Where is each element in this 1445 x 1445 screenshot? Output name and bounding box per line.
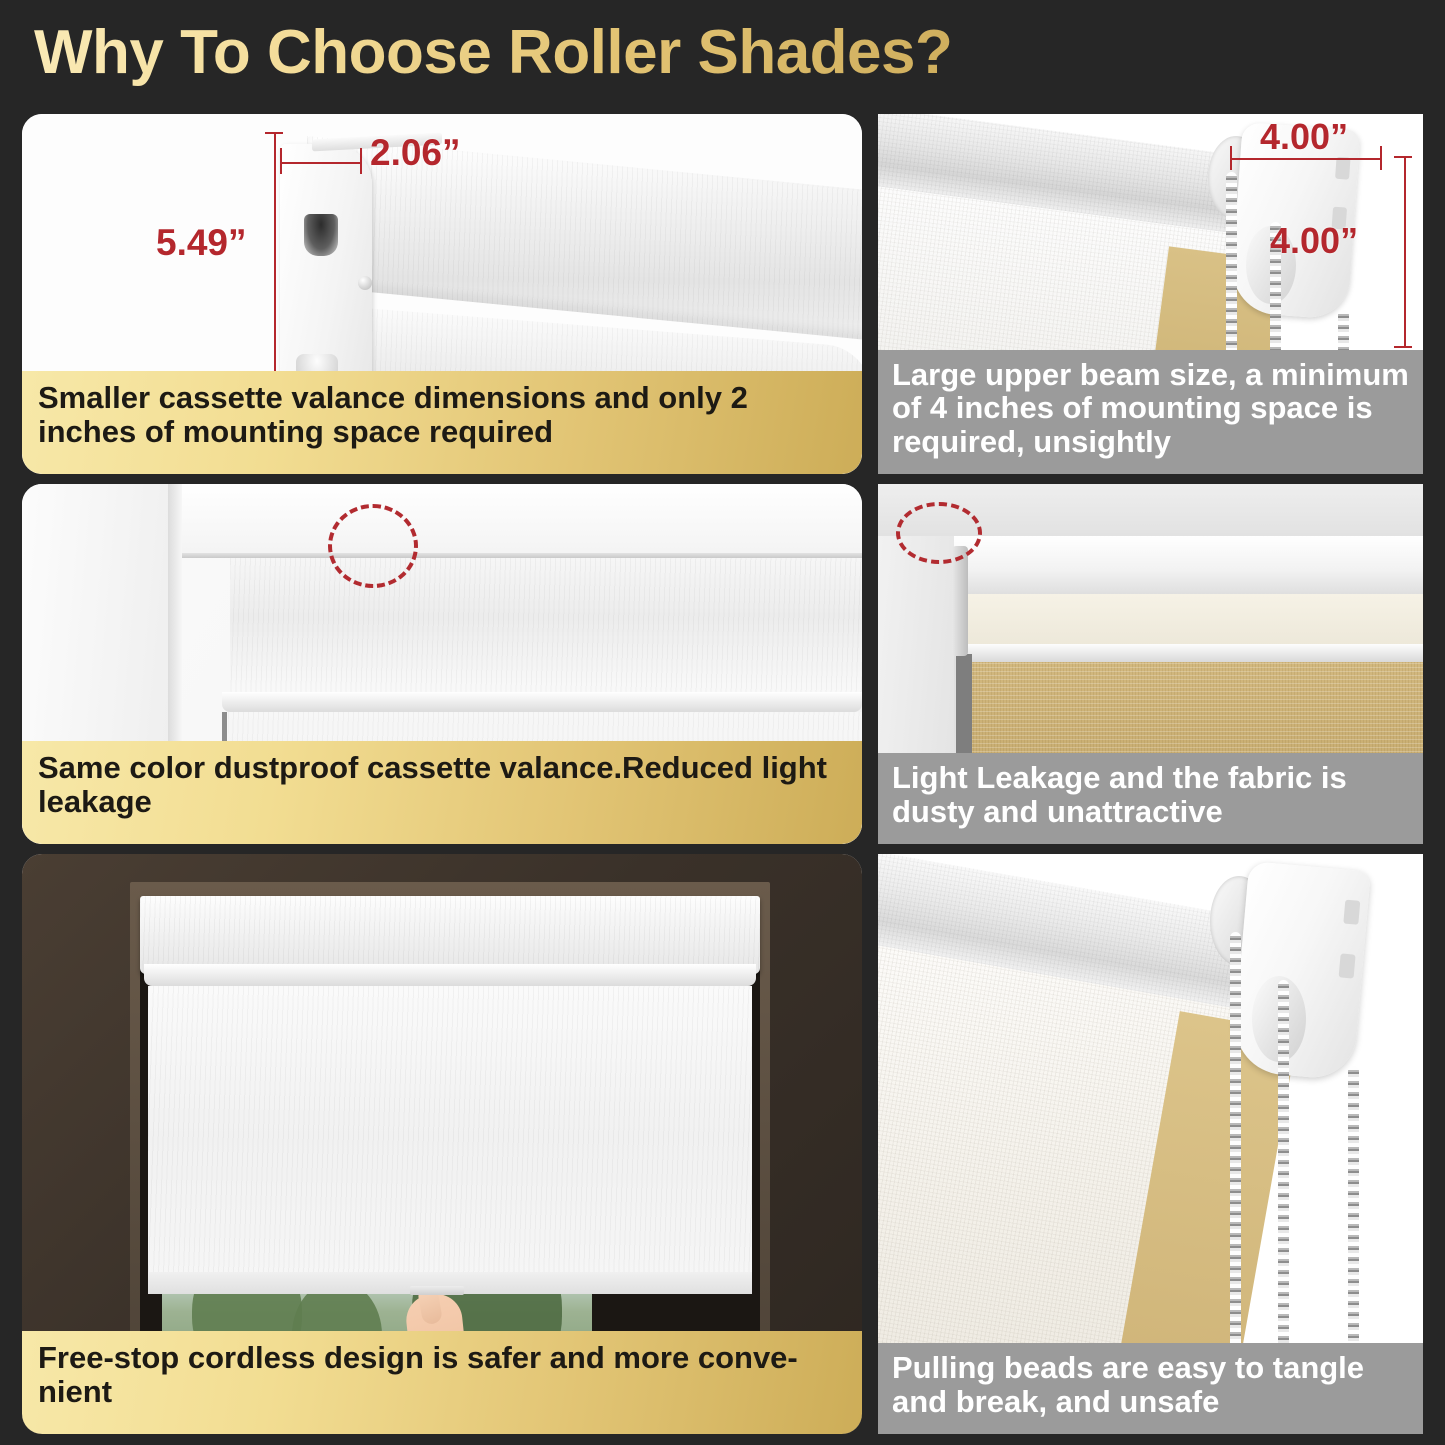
panel-4-caption: Light Leakage and the fabric is dusty an… (878, 753, 1423, 844)
bracket-slot-icon (304, 214, 338, 256)
panel-large-beam[interactable]: 4.00” 4.00” Large upper beam size, a min… (878, 114, 1423, 474)
highlight-circle-icon (328, 504, 418, 588)
height-dim-cap-top (265, 132, 283, 134)
beam-height-cap-bottom (1394, 346, 1412, 348)
bracket-tab-icon (1339, 953, 1356, 978)
beam-width-label: 4.00” (1260, 116, 1348, 158)
cassette-valance-shape (230, 558, 862, 698)
cassette-rail-shape (222, 692, 862, 712)
header-bar: Why To Choose Roller Shades? (0, 0, 1445, 104)
window-head-trim (172, 484, 862, 558)
height-dimension-label: 5.49” (156, 222, 247, 264)
shade-pull-handle[interactable] (410, 1286, 464, 1295)
panel-cordless-design[interactable]: Free-stop cordless design is safer and m… (22, 854, 862, 1434)
bead-chain-left[interactable] (1230, 932, 1241, 1412)
shade-headrail-lip (144, 964, 756, 986)
panel-light-leakage[interactable]: Large gap Light Leakage and the fabric i… (878, 484, 1423, 844)
beam-height-label: 4.00” (1270, 220, 1358, 262)
beam-width-dim-line (1230, 158, 1382, 160)
bracket-clip-shape (952, 546, 968, 656)
panel-5-caption: Free-stop cordless design is safer and m… (22, 1331, 862, 1434)
bracket-tab-icon (1335, 157, 1351, 180)
roller-bracket-shape (1231, 861, 1371, 1081)
page-title: Why To Choose Roller Shades? (34, 17, 952, 88)
head-rail-shape (954, 536, 1423, 598)
beam-height-dim-line (1404, 156, 1406, 348)
panel-2-caption: Large upper beam size, a minimum of 4 in… (878, 350, 1423, 474)
panel-3-caption: Same color dustproof cassette valance.Re… (22, 741, 862, 844)
panel-smaller-cassette[interactable]: 2.06” 5.49” Smaller cassette valance dim… (22, 114, 862, 474)
panel-dustproof-cassette[interactable]: smaller gap Same color dustproof cassett… (22, 484, 862, 844)
beam-width-tick-left (1230, 146, 1232, 170)
bracket-tab-icon (1343, 900, 1360, 925)
width-dim-tick-left (280, 148, 282, 174)
panel-1-caption: Smaller cassette valance dimensions and … (22, 371, 862, 474)
comparison-grid: 2.06” 5.49” Smaller cassette valance dim… (0, 104, 1445, 1445)
width-dimension-label: 2.06” (370, 132, 461, 174)
shade-fabric-body (148, 986, 752, 1286)
panel-6-caption: Pulling beads are easy to tangle and bre… (878, 1343, 1423, 1434)
beam-width-tick-right (1380, 146, 1382, 170)
bracket-screw-icon (358, 276, 372, 290)
head-rail-lip-shape (964, 644, 1423, 662)
width-dim-line (280, 162, 362, 164)
panel-pulling-beads[interactable]: Pulling beads are easy to tangle and bre… (878, 854, 1423, 1434)
beam-height-cap-top (1394, 156, 1412, 158)
width-dim-tick-right (360, 148, 362, 174)
shade-headrail (140, 896, 760, 974)
highlight-circle-icon (896, 502, 982, 564)
